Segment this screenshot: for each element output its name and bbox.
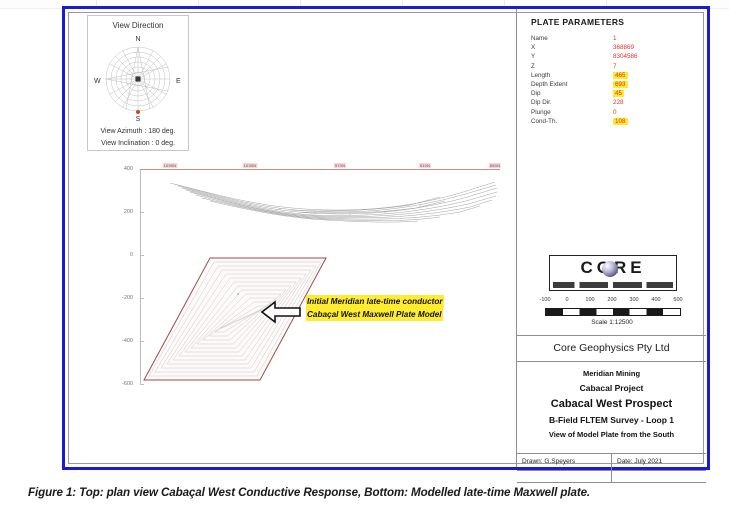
table-row: Cond-Th. 108 — [531, 118, 696, 127]
annotation-line-2: Cabaçal West Maxwell Plate Model — [306, 308, 443, 321]
scale-tick-label: -100 — [539, 297, 550, 303]
param-value: 0 — [613, 109, 617, 116]
y-tick-label: 0 — [109, 252, 133, 258]
station-label: 1090N — [163, 163, 178, 168]
param-value: 8304586 — [613, 53, 638, 60]
param-key: Dip — [531, 90, 540, 97]
core-geophysics-logo: CORE — [549, 255, 677, 291]
meta-divider — [611, 454, 612, 470]
figure-frame: View Direction N S W E View Azimuth : 18… — [62, 6, 710, 470]
param-value: 7 — [613, 63, 617, 70]
param-key: Depth Extent — [531, 81, 567, 88]
client-name: Meridian Mining — [517, 369, 706, 378]
param-key: Y — [531, 53, 535, 60]
scale-tick-label: 500 — [673, 297, 682, 303]
compass-south-label: S — [136, 116, 141, 123]
compass-north-label: N — [135, 36, 140, 43]
scale-bar — [545, 308, 681, 316]
station-label: 850N — [489, 163, 501, 168]
survey-name: B-Field FLTEM Survey - Loop 1 — [517, 415, 706, 425]
view-direction-marker — [136, 110, 140, 114]
scale-caption: Scale 1:12500 — [537, 319, 687, 326]
y-tick-label: -600 — [109, 381, 133, 387]
param-key: Name — [531, 35, 548, 42]
param-value: 45 — [613, 90, 624, 97]
title-block: Meridian Mining Cabacal Project Cabacal … — [517, 361, 706, 439]
maxwell-plate-model — [140, 254, 330, 384]
project-name: Cabacal Project — [517, 383, 706, 393]
annotation-text: Initial Meridian late-time conductor Cab… — [306, 295, 476, 321]
table-row: Dip 45 — [531, 90, 696, 99]
compass-west-label: W — [94, 78, 101, 85]
drillhole-traces — [140, 179, 500, 239]
meta-bottom-rule — [517, 482, 706, 483]
param-key: X — [531, 44, 535, 51]
section-view-plot: 400 200 0 -200 -400 -600 1090N 1030N 970… — [65, 159, 516, 459]
param-value: 228 — [613, 99, 624, 106]
plate-parameters-table: PLATE PARAMETERS Name 1 X 368869 Y 83045… — [531, 17, 696, 127]
meta-row-empty — [517, 469, 706, 483]
company-row: Core Geophysics Pty Ltd — [517, 335, 706, 362]
param-key: Z — [531, 63, 535, 70]
y-tick-mark — [140, 384, 144, 385]
table-row: Name 1 — [531, 35, 696, 44]
param-value: 465 — [613, 72, 628, 79]
y-tick-label: 400 — [109, 166, 133, 172]
y-tick-label: -400 — [109, 338, 133, 344]
param-value: 108 — [613, 118, 628, 125]
view-description: View of Model Plate from the South — [517, 430, 706, 439]
param-value: 1 — [613, 35, 617, 42]
company-name: Core Geophysics Pty Ltd — [517, 342, 706, 354]
meta-divider-2 — [611, 469, 612, 483]
scale-tick-label: 0 — [565, 297, 568, 303]
table-row: Z 7 — [531, 63, 696, 72]
table-row: Y 8304586 — [531, 53, 696, 62]
station-label: 1030N — [243, 163, 258, 168]
scale-tick-label: 200 — [607, 297, 616, 303]
view-inclination-label: View Inclination : 0 deg. — [88, 140, 188, 147]
param-key: Dip Dir. — [531, 99, 552, 106]
param-value: 693 — [613, 81, 628, 88]
table-row: Dip Dir. 228 — [531, 99, 696, 108]
table-row: X 368869 — [531, 44, 696, 53]
annotation-line-1: Initial Meridian late-time conductor — [306, 295, 444, 308]
table-row: Depth Extent 693 — [531, 81, 696, 90]
compass-rose-icon — [105, 46, 171, 112]
date-label: Date: July 2021 — [617, 458, 662, 465]
station-label: 910N — [419, 163, 431, 168]
figure-side-panel: PLATE PARAMETERS Name 1 X 368869 Y 83045… — [517, 9, 706, 467]
param-key: Length — [531, 72, 550, 79]
prospect-name: Cabacal West Prospect — [517, 398, 706, 410]
y-tick-label: -200 — [109, 295, 133, 301]
view-direction-box: View Direction N S W E View Azimuth : 18… — [87, 15, 189, 151]
view-direction-title: View Direction — [88, 21, 188, 30]
compass-east-label: E — [176, 78, 181, 85]
station-label: 970N — [334, 163, 346, 168]
scale-tick-label: 300 — [629, 297, 638, 303]
surface-survey-line — [140, 169, 500, 170]
drawn-by-label: Drawn: G.Speyers — [522, 458, 575, 465]
figure-caption: Figure 1: Top: plan view Cabaçal West Co… — [28, 486, 718, 499]
view-azimuth-label: View Azimuth : 180 deg. — [88, 128, 188, 135]
scale-tick-label: 400 — [651, 297, 660, 303]
y-tick-label: 200 — [109, 209, 133, 215]
globe-icon — [602, 261, 618, 277]
param-value: 368869 — [613, 44, 634, 51]
left-arrow-icon — [261, 299, 301, 325]
param-key: Cond-Th. — [531, 118, 557, 125]
table-row: Plunge 0 — [531, 109, 696, 118]
table-row: Length 465 — [531, 72, 696, 81]
core-logo-footer-bar — [553, 282, 673, 288]
plate-parameters-title: PLATE PARAMETERS — [531, 17, 696, 27]
scale-tick-label: 100 — [585, 297, 594, 303]
param-key: Plunge — [531, 109, 551, 116]
